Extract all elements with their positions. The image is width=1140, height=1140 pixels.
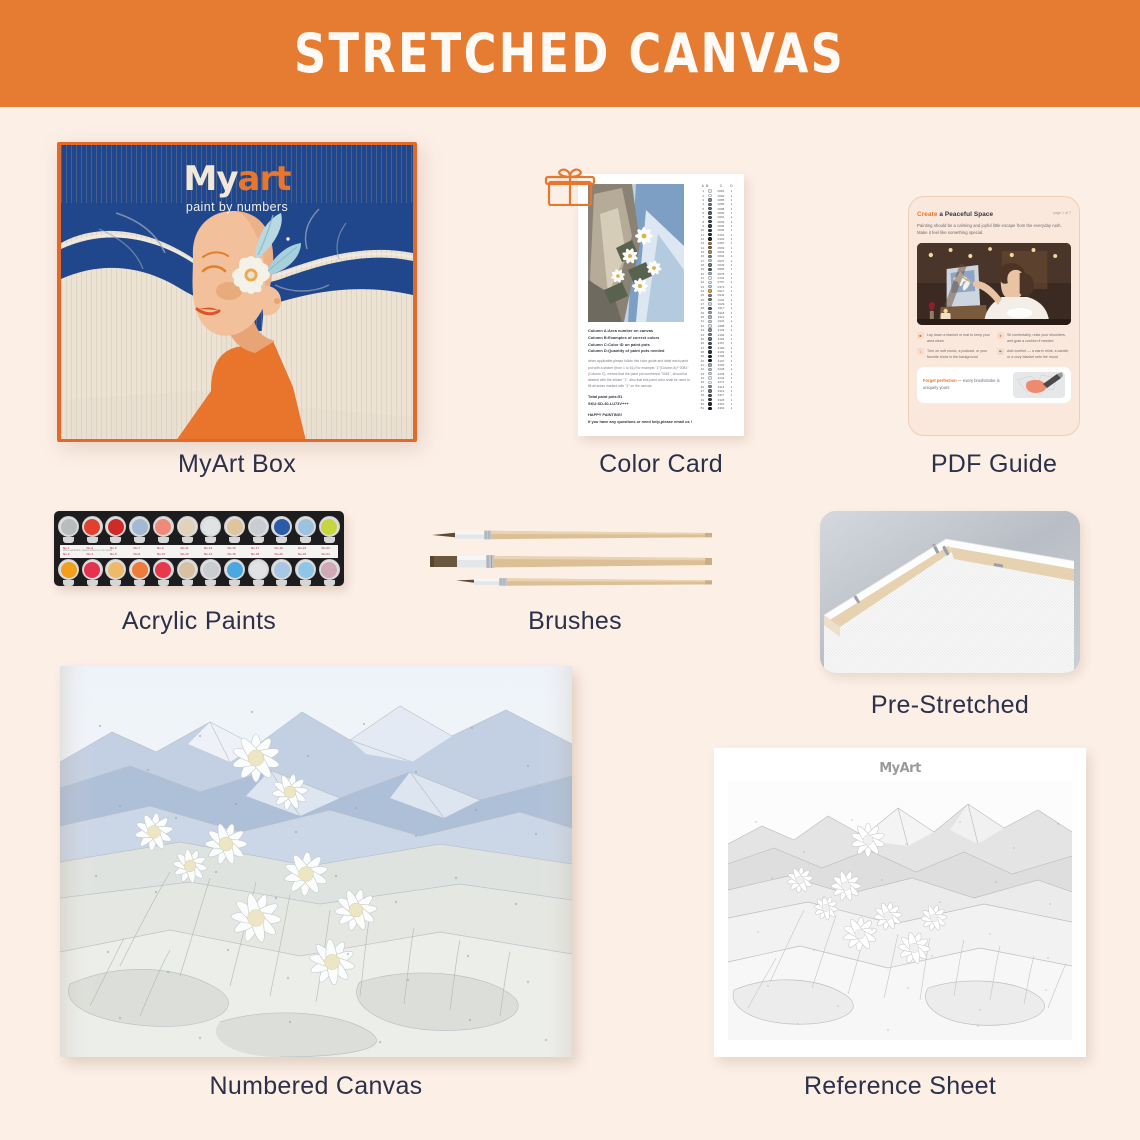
paint-pot-tab xyxy=(158,537,169,543)
swatch-color-dot xyxy=(708,324,711,327)
swatch-color-dot xyxy=(708,263,711,266)
paint-pot-tab xyxy=(63,580,74,586)
pdf-guide-quote: Forget perfection — every brushstroke is… xyxy=(917,367,1071,403)
gift-icon xyxy=(541,166,599,206)
paint-row-bottom xyxy=(58,559,340,587)
paint-pot-color xyxy=(155,519,171,535)
swatch-color-dot xyxy=(708,355,711,358)
swatch-color-dot xyxy=(708,407,711,410)
paint-pot xyxy=(248,516,269,543)
brushes-art xyxy=(420,524,720,596)
paint-pot-tab xyxy=(134,537,145,543)
swatch-color-cell xyxy=(706,311,714,314)
swatch-color-cell xyxy=(706,394,714,397)
paint-row-top xyxy=(58,516,340,544)
paint-pot-lid xyxy=(58,559,79,580)
paint-pot-tab xyxy=(87,580,98,586)
paint-number-top: No.23 xyxy=(322,546,330,550)
pdf-guide-image: page 1 of 7 Create a Peaceful Space Pain… xyxy=(908,196,1080,436)
paint-pot-color xyxy=(250,562,266,578)
swatch-color-dot xyxy=(708,376,711,379)
caption-reference-sheet: Reference Sheet xyxy=(714,1072,1086,1101)
caption-brushes: Brushes xyxy=(425,607,725,636)
paint-number-bottom: No.10 xyxy=(157,552,165,556)
swatch-color-dot xyxy=(708,289,711,292)
paint-pot xyxy=(105,516,126,543)
paint-pot-color xyxy=(84,519,100,535)
paint-palette-icon: ■ xyxy=(917,332,924,339)
swatch-color-id: 2363 xyxy=(714,406,728,410)
color-swatch-header: A B C D xyxy=(698,184,738,188)
paint-pot xyxy=(177,559,198,586)
paint-pot-lid xyxy=(200,516,221,537)
swatch-color-cell xyxy=(706,363,714,366)
swatch-color-cell xyxy=(706,224,714,227)
swatch-area-number: 51 xyxy=(698,406,706,410)
pre-stretched-image xyxy=(820,511,1080,673)
swatch-color-cell xyxy=(706,342,714,345)
paint-pot-color xyxy=(298,562,314,578)
color-card-line-a: Column A:Area number on canvas xyxy=(588,328,693,335)
stretched-corner-art xyxy=(820,511,1080,673)
swatch-color-dot xyxy=(708,298,711,301)
swatch-color-dot xyxy=(708,198,711,201)
swatch-color-cell xyxy=(706,229,714,232)
numbered-canvas-image xyxy=(60,666,572,1057)
swatch-color-cell xyxy=(706,298,714,301)
paint-pot-lid xyxy=(295,559,316,580)
color-card-sku: SKU:SD-40-LU73V+++ xyxy=(588,400,693,407)
page-title: STRETCHED CANVAS xyxy=(294,22,845,85)
paint-pot-lid xyxy=(105,516,126,537)
paint-pot xyxy=(224,516,245,543)
paint-pot-tab xyxy=(276,537,287,543)
swatch-color-dot xyxy=(708,328,711,331)
pdf-tip-text: Turn on soft music, a podcast, or your f… xyxy=(927,348,991,360)
swatch-color-dot xyxy=(708,246,711,249)
numbered-canvas-art xyxy=(60,666,572,1057)
swatch-color-cell xyxy=(706,402,714,405)
paint-pot xyxy=(82,559,103,586)
swatch-color-dot xyxy=(708,389,711,392)
paint-pot-color xyxy=(250,519,266,535)
swatch-color-cell xyxy=(706,389,714,392)
swatch-color-dot xyxy=(708,233,711,236)
pdf-guide-page: page 1 of 7 Create a Peaceful Space Pain… xyxy=(917,211,1071,425)
swatch-color-cell xyxy=(706,259,714,262)
color-card-photo xyxy=(588,184,684,322)
paint-number-top: No.3 xyxy=(87,546,94,550)
swatch-color-cell xyxy=(706,285,714,288)
swatch-color-dot xyxy=(708,255,711,258)
swatch-color-dot xyxy=(708,259,711,262)
swatch-color-cell xyxy=(706,211,714,214)
swatch-color-dot xyxy=(708,272,711,275)
swatch-color-dot xyxy=(708,224,711,227)
swatch-color-cell xyxy=(706,250,714,253)
swatch-color-cell xyxy=(706,355,714,358)
swatch-color-dot xyxy=(708,350,711,353)
pdf-quote-photo xyxy=(1013,372,1065,398)
color-card-line-c: Column C:Color ID on paint pots xyxy=(588,342,693,349)
paint-pot xyxy=(319,516,340,543)
caption-pre-stretched: Pre-Stretched xyxy=(820,691,1080,720)
pdf-guide-title: Create a Peaceful Space xyxy=(917,211,1071,218)
swatch-color-dot xyxy=(708,315,711,318)
swatch-color-cell xyxy=(706,359,714,362)
color-card-total: Total paint pots:51 xyxy=(588,393,693,400)
paint-pot xyxy=(153,516,174,543)
paint-pot-tab xyxy=(182,537,193,543)
pdf-tip-item: ☕Add comfort — a warm drink, a candle, o… xyxy=(997,348,1071,360)
paint-number-top: No.9 xyxy=(157,546,164,550)
paint-pot-tab xyxy=(182,580,193,586)
pdf-tip-item: ●Sit comfortably, relax your shoulders, … xyxy=(997,332,1071,344)
swatch-color-dot xyxy=(708,363,711,366)
paint-pot xyxy=(271,516,292,543)
paint-pot xyxy=(177,516,198,543)
pdf-tip-text: Lay down a blanket or mat to keep your a… xyxy=(927,332,991,344)
pdf-quote-text: Forget perfection — every brushstroke is… xyxy=(923,378,1008,392)
detail-brush xyxy=(456,578,712,586)
paint-pot-tab xyxy=(110,580,121,586)
color-swatch-rows: 1008112008213008514008615008816009017009… xyxy=(698,189,738,411)
paint-number-bottom: No.12 xyxy=(181,552,189,556)
pdf-photo-art xyxy=(917,243,1071,325)
swatch-color-cell xyxy=(706,346,714,349)
paint-pot-color xyxy=(321,562,337,578)
paint-pot-tab xyxy=(324,580,335,586)
caption-numbered-canvas: Numbered Canvas xyxy=(60,1072,572,1101)
paint-pot-lid xyxy=(153,559,174,580)
swatch-color-dot xyxy=(708,398,711,401)
color-card-line-d: Column D:Quantity of paint pots needed xyxy=(588,348,693,355)
paint-pot xyxy=(129,559,150,586)
paint-pot xyxy=(295,516,316,543)
pdf-title-accent: Create xyxy=(917,211,938,218)
paint-pot-tab xyxy=(205,537,216,543)
caption-acrylic-paints: Acrylic Paints xyxy=(54,607,344,636)
color-swatch-row: 5123631 xyxy=(698,406,738,410)
paint-pot-lid xyxy=(200,559,221,580)
swatch-color-dot xyxy=(708,368,711,371)
swatch-color-cell xyxy=(706,242,714,245)
paint-pot-lid xyxy=(271,516,292,537)
pdf-guide-tips: ■Lay down a blanket or mat to keep your … xyxy=(917,332,1071,361)
swatch-color-dot xyxy=(708,203,711,206)
swatch-color-cell xyxy=(706,315,714,318)
caption-myart-box: MyArt Box xyxy=(57,450,417,479)
drink-icon: ☕ xyxy=(997,348,1004,355)
paint-pot-color xyxy=(132,519,148,535)
paint-pot-lid xyxy=(177,559,198,580)
swatch-color-dot xyxy=(708,402,711,405)
swatch-color-dot xyxy=(708,385,711,388)
paint-pot-color xyxy=(132,562,148,578)
myart-box-image: Myart paint by numbers xyxy=(57,142,417,442)
paint-pot-color xyxy=(227,519,243,535)
paint-pot-lid xyxy=(177,516,198,537)
myart-logo: Myart paint by numbers xyxy=(61,159,413,214)
paint-number-bottom: No.6 xyxy=(110,552,117,556)
reference-sheet-image: MyArt xyxy=(714,748,1086,1057)
paint-pot-lid xyxy=(248,516,269,537)
paint-pot-color xyxy=(84,562,100,578)
paint-number-top: No.5 xyxy=(110,546,117,550)
paint-pot xyxy=(224,559,245,586)
pdf-guide-subtitle: Painting should be a calming and joyful … xyxy=(917,222,1071,237)
paint-pot-lid xyxy=(153,516,174,537)
pdf-tip-text: Add comfort — a warm drink, a candle, or… xyxy=(1007,348,1071,360)
paint-pot-lid xyxy=(224,559,245,580)
paint-pot-color xyxy=(108,519,124,535)
paint-pot-color xyxy=(203,519,219,535)
myart-tagline: paint by numbers xyxy=(61,200,413,214)
swatch-color-dot xyxy=(708,281,711,284)
col-header-a: A xyxy=(698,184,706,188)
swatch-color-cell xyxy=(706,289,714,292)
paint-pot xyxy=(248,559,269,586)
swatch-color-dot xyxy=(708,372,711,375)
paint-number-bottom: No.2 xyxy=(63,552,70,556)
swatch-color-dot xyxy=(708,207,711,210)
paint-pot-tab xyxy=(229,537,240,543)
paint-pot xyxy=(200,559,221,586)
swatch-color-dot xyxy=(708,346,711,349)
paint-number-bottom: No.22 xyxy=(298,552,306,556)
swatch-color-cell xyxy=(706,207,714,210)
round-brush xyxy=(432,531,712,540)
paint-number-top: No.17 xyxy=(251,546,259,550)
swatch-color-dot xyxy=(708,381,711,384)
paint-pot xyxy=(129,516,150,543)
box-face: Myart paint by numbers xyxy=(61,145,413,439)
chair-icon: ● xyxy=(997,332,1004,339)
reference-sheet-art xyxy=(728,782,1072,1040)
flat-brush xyxy=(430,555,712,568)
paint-pot-tab xyxy=(229,580,240,586)
swatch-color-cell xyxy=(706,328,714,331)
swatch-color-cell xyxy=(706,376,714,379)
swatch-color-dot xyxy=(708,285,711,288)
swatch-color-cell xyxy=(706,320,714,323)
paint-pot-color xyxy=(227,562,243,578)
swatch-color-cell xyxy=(706,398,714,401)
paint-pot-lid xyxy=(295,516,316,537)
paint-pot xyxy=(82,516,103,543)
swatch-color-dot xyxy=(708,337,711,340)
swatch-color-dot xyxy=(708,211,711,214)
color-card-help: If you have any questions or need help,p… xyxy=(588,418,693,425)
caption-pdf-guide: PDF Guide xyxy=(880,450,1108,479)
paint-pot-color xyxy=(179,519,195,535)
paint-pot-lid xyxy=(82,516,103,537)
swatch-color-cell xyxy=(706,246,714,249)
paint-pot-color xyxy=(274,562,290,578)
paint-pot-tab xyxy=(158,580,169,586)
swatch-color-cell xyxy=(706,350,714,353)
swatch-color-dot xyxy=(708,250,711,253)
paint-pot-tab xyxy=(205,580,216,586)
swatch-color-cell xyxy=(706,372,714,375)
swatch-color-cell xyxy=(706,263,714,266)
color-card-paragraph: when applicable,please follow this color… xyxy=(588,358,693,389)
pdf-tip-item: ■Lay down a blanket or mat to keep your … xyxy=(917,332,991,344)
paint-number-top: No.15 xyxy=(228,546,236,550)
pdf-guide-photo xyxy=(917,243,1071,325)
paint-pot xyxy=(58,516,79,543)
paint-pot-color xyxy=(61,519,77,535)
color-card-instructions: Column A:Area number on canvas Column B:… xyxy=(588,328,693,425)
paint-number-bottom: No.16 xyxy=(228,552,236,556)
swatch-quantity: 1 xyxy=(728,406,735,410)
paint-pot-lid xyxy=(271,559,292,580)
swatch-color-dot xyxy=(708,237,711,240)
paint-pot-tab xyxy=(253,537,264,543)
paint-pot xyxy=(319,559,340,586)
paint-number-top: No.21 xyxy=(298,546,306,550)
swatch-color-cell xyxy=(706,268,714,271)
swatch-color-cell xyxy=(706,189,714,192)
swatch-color-dot xyxy=(708,333,711,336)
paint-pot-lid xyxy=(319,559,340,580)
paint-label-strip: When applicable, please follow the color… xyxy=(60,545,338,558)
paint-pot-lid xyxy=(319,516,340,537)
pdf-quote-bold: Forget perfection xyxy=(923,378,957,383)
paint-pot-lid xyxy=(248,559,269,580)
paint-pot xyxy=(295,559,316,586)
swatch-color-cell xyxy=(706,198,714,201)
paint-number-top: No.7 xyxy=(134,546,141,550)
swatch-color-dot xyxy=(708,359,711,362)
swatch-color-cell xyxy=(706,272,714,275)
swatch-color-cell xyxy=(706,237,714,240)
paint-pot xyxy=(58,559,79,586)
paint-pot-color xyxy=(321,519,337,535)
swatch-color-dot xyxy=(708,320,711,323)
swatch-color-dot xyxy=(708,268,711,271)
swatch-color-cell xyxy=(706,302,714,305)
paint-number-top: No.13 xyxy=(204,546,212,550)
paint-pot-tab xyxy=(300,537,311,543)
paint-pot-color xyxy=(61,562,77,578)
swatch-color-dot xyxy=(708,229,711,232)
paint-pot-color xyxy=(298,519,314,535)
paint-pot-tab xyxy=(253,580,264,586)
paint-number-bottom: No.8 xyxy=(134,552,141,556)
paint-pot-tab xyxy=(63,537,74,543)
paint-pot-lid xyxy=(105,559,126,580)
paint-pot-lid xyxy=(224,516,245,537)
paint-pot-tab xyxy=(324,537,335,543)
swatch-color-cell xyxy=(706,220,714,223)
pdf-page-label: page 1 of 7 xyxy=(1053,211,1071,215)
paint-pot-lid xyxy=(58,516,79,537)
paint-number-bottom: No.20 xyxy=(275,552,283,556)
swatch-color-dot xyxy=(708,342,711,345)
paint-number-top: No.1 xyxy=(63,546,70,550)
swatch-color-dot xyxy=(708,302,711,305)
swatch-color-dot xyxy=(708,394,711,397)
swatch-color-dot xyxy=(708,307,711,310)
swatch-color-cell xyxy=(706,307,714,310)
col-header-b: B xyxy=(706,184,714,188)
paint-pot-color xyxy=(108,562,124,578)
color-card-line-b: Column B:Examples of correct colors xyxy=(588,335,693,342)
paint-pot xyxy=(200,516,221,543)
swatch-color-cell xyxy=(706,233,714,236)
music-icon: ♪ xyxy=(917,348,924,355)
brushes-image xyxy=(420,524,720,596)
col-header-c: C xyxy=(714,184,728,188)
myart-logo-text: Myart xyxy=(61,159,413,199)
col-header-d: D xyxy=(728,184,735,188)
swatch-color-dot xyxy=(708,242,711,245)
logo-art-text: art xyxy=(238,159,291,199)
acrylic-paints-image: When applicable, please follow the color… xyxy=(54,511,344,586)
swatch-color-cell xyxy=(706,337,714,340)
swatch-color-dot xyxy=(708,194,711,197)
paint-number-bottom: No.18 xyxy=(251,552,259,556)
swatch-color-cell xyxy=(706,294,714,297)
swatch-color-cell xyxy=(706,281,714,284)
paint-number-bottom: No.14 xyxy=(204,552,212,556)
paint-pot-color xyxy=(274,519,290,535)
swatch-color-cell xyxy=(706,324,714,327)
swatch-color-cell xyxy=(706,276,714,279)
swatch-color-cell xyxy=(706,385,714,388)
paint-pot-tab xyxy=(134,580,145,586)
pdf-title-rest: a Peaceful Space xyxy=(938,211,994,218)
pdf-tip-item: ♪Turn on soft music, a podcast, or your … xyxy=(917,348,991,360)
reference-line-art xyxy=(728,782,1072,1040)
paint-pot-tab xyxy=(110,537,121,543)
reference-sheet-logo: MyArt xyxy=(728,761,1072,776)
page-header: STRETCHED CANVAS xyxy=(0,0,1140,107)
paint-number-top: No.19 xyxy=(275,546,283,550)
color-card-image: Column A:Area number on canvas Column B:… xyxy=(578,174,744,436)
paint-pot xyxy=(153,559,174,586)
paint-pot-color xyxy=(155,562,171,578)
swatch-color-dot xyxy=(708,294,711,297)
paint-pot-tab xyxy=(300,580,311,586)
paint-number-bottom: No.24 xyxy=(322,552,330,556)
swatch-color-cell xyxy=(706,381,714,384)
paint-pot-color xyxy=(179,562,195,578)
swatch-color-cell xyxy=(706,407,714,410)
color-swatch-table: A B C D 10081120082130085140086150088160… xyxy=(698,184,738,411)
paint-pot xyxy=(105,559,126,586)
paint-pot-lid xyxy=(129,559,150,580)
swatch-color-dot xyxy=(708,220,711,223)
paint-number-bottom: No.4 xyxy=(87,552,94,556)
paint-pot-color xyxy=(203,562,219,578)
pdf-quote-photo-art xyxy=(1013,372,1065,398)
logo-my-text: My xyxy=(184,159,238,199)
color-card-happy: HAPPY PAINTING! xyxy=(588,411,693,418)
swatch-color-dot xyxy=(708,216,711,219)
swatch-color-cell xyxy=(706,194,714,197)
paint-pot-lid xyxy=(82,559,103,580)
swatch-color-dot xyxy=(708,276,711,279)
paint-pot-tab xyxy=(87,537,98,543)
swatch-color-dot xyxy=(708,311,711,314)
paint-pot-lid xyxy=(129,516,150,537)
swatch-color-dot xyxy=(708,189,711,192)
swatch-color-cell xyxy=(706,333,714,336)
color-card-photo-art xyxy=(588,184,684,322)
woman-illustration xyxy=(61,191,413,439)
